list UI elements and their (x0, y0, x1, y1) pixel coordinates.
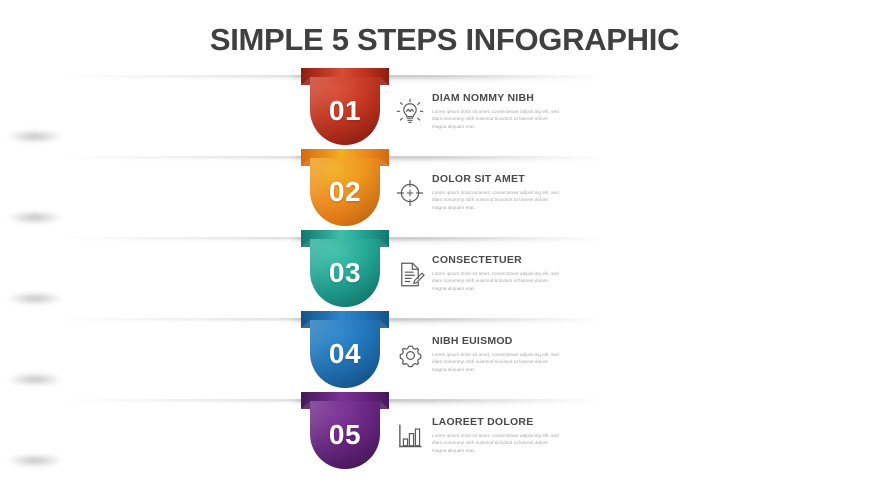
step-number: 03 (310, 239, 380, 307)
step-title: DOLOR SIT AMET (432, 173, 572, 185)
step-number: 05 (310, 401, 380, 469)
step-title: DIAM NOMMY NIBH (432, 92, 572, 104)
step-description: Lorem ipsum dolor sit amet, consectetuer… (432, 432, 562, 454)
step-description: Lorem ipsum dolor sit amet, consectetuer… (432, 189, 562, 211)
card-shadow-left (60, 156, 310, 162)
lightbulb-icon (390, 92, 430, 132)
card-shadow-left (60, 75, 310, 81)
step-title: CONSECTETUER (432, 254, 572, 266)
step-description: Lorem ipsum dolor sit amet, consectetuer… (432, 351, 562, 373)
step-text-block: DIAM NOMMY NIBH Lorem ipsum dolor sit am… (432, 92, 572, 130)
target-icon (390, 173, 430, 213)
step-badge[interactable]: 03 (310, 230, 380, 307)
step-description: Lorem ipsum dolor sit amet, consectetuer… (432, 108, 562, 130)
step-badge[interactable]: 05 (310, 392, 380, 469)
step-text-block: CONSECTETUER Lorem ipsum dolor sit amet,… (432, 254, 572, 292)
badge-drop-shadow (7, 292, 63, 305)
step-row[interactable]: 02 DOLOR SIT AMET Lorem ipsum dolor sit … (0, 149, 889, 230)
gear-icon (390, 335, 430, 375)
step-title: NIBH EUISMOD (432, 335, 572, 347)
step-row[interactable]: 04 NIBH EUISMOD Lorem ipsum dolor sit am… (0, 311, 889, 392)
step-number: 01 (310, 77, 380, 145)
card-shadow-left (60, 399, 310, 405)
badge-drop-shadow (7, 211, 63, 224)
step-text-block: NIBH EUISMOD Lorem ipsum dolor sit amet,… (432, 335, 572, 373)
step-text-block: DOLOR SIT AMET Lorem ipsum dolor sit ame… (432, 173, 572, 211)
step-badge[interactable]: 02 (310, 149, 380, 226)
card-shadow-left (60, 318, 310, 324)
badge-drop-shadow (7, 130, 63, 143)
step-row[interactable]: 01 DIAM NOMMY NIBH Lorem ipsum dolor sit… (0, 68, 889, 149)
page-title: SIMPLE 5 STEPS INFOGRAPHIC (0, 22, 889, 58)
document-edit-icon (390, 254, 430, 294)
bar-chart-icon (390, 416, 430, 456)
step-description: Lorem ipsum dolor sit amet, consectetuer… (432, 270, 562, 292)
step-badge[interactable]: 01 (310, 68, 380, 145)
step-row[interactable]: 03 CONSECTETUER Lorem ipsum dolor sit am… (0, 230, 889, 311)
card-shadow-left (60, 237, 310, 243)
step-badge[interactable]: 04 (310, 311, 380, 388)
steps-list: 01 DIAM NOMMY NIBH Lorem ipsum dolor sit… (0, 68, 889, 473)
step-row[interactable]: 05 LAOREET DOLORE Lorem ipsum dolor sit … (0, 392, 889, 473)
badge-drop-shadow (7, 373, 63, 386)
badge-drop-shadow (7, 454, 63, 467)
step-number: 02 (310, 158, 380, 226)
step-text-block: LAOREET DOLORE Lorem ipsum dolor sit ame… (432, 416, 572, 454)
step-title: LAOREET DOLORE (432, 416, 572, 428)
step-number: 04 (310, 320, 380, 388)
